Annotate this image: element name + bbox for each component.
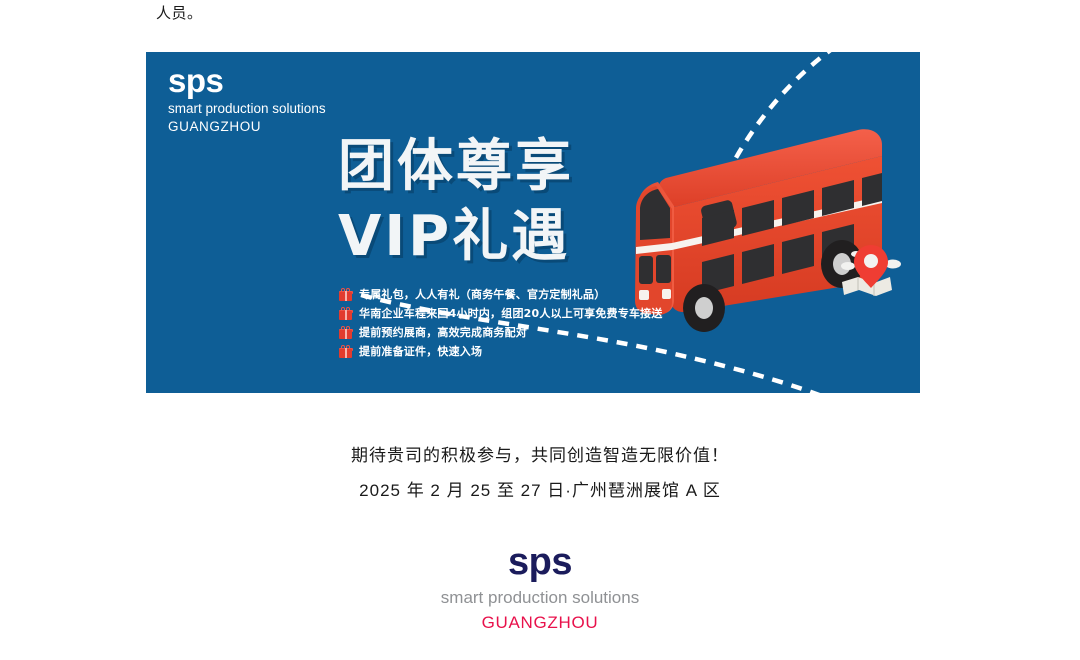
top-paragraph-text: 人员。 — [156, 3, 203, 25]
benefit-text: 华南企业车程来回4小时内，组团20人以上可享免费专车接送 — [359, 307, 663, 320]
footer-logo-city: GUANGZHOU — [0, 611, 1080, 635]
list-item: 提前准备证件，快速入场 — [339, 343, 663, 360]
benefit-text: 专属礼包，人人有礼（商务午餐、官方定制礼品） — [359, 288, 605, 301]
banner-logo-sps: sps — [168, 64, 326, 98]
banner-logo: sps smart production solutions GUANGZHOU — [168, 64, 326, 136]
gift-icon — [339, 326, 352, 339]
list-item: 华南企业车程来回4小时内，组团20人以上可享免费专车接送 — [339, 305, 663, 322]
headline-line-1: 团体尊享 — [338, 136, 574, 198]
double-decker-bus-illustration — [626, 112, 916, 342]
headline-line-2: VIP礼遇 — [338, 206, 574, 268]
banner-benefit-list: 专属礼包，人人有礼（商务午餐、官方定制礼品） 华南企业车程来回4小时内，组团20… — [339, 286, 663, 362]
footer-logo-sps: sps — [0, 540, 1080, 584]
gift-icon — [339, 288, 352, 301]
gift-icon — [339, 345, 352, 358]
banner-logo-city: GUANGZHOU — [168, 118, 326, 136]
footer-logo-tagline: smart production solutions — [0, 586, 1080, 610]
gift-icon — [339, 307, 352, 320]
promo-banner: sps smart production solutions GUANGZHOU — [146, 52, 920, 393]
benefit-text: 提前预约展商，高效完成商务配对 — [359, 326, 527, 339]
closing-text-block: 期待贵司的积极参与，共同创造智造无限价值！ 2025 年 2 月 25 至 27… — [0, 438, 1080, 508]
benefit-text: 提前准备证件，快速入场 — [359, 345, 482, 358]
closing-line-2: 2025 年 2 月 25 至 27 日·广州琶洲展馆 A 区 — [0, 473, 1080, 508]
banner-logo-tagline: smart production solutions — [168, 100, 326, 118]
list-item: 专属礼包，人人有礼（商务午餐、官方定制礼品） — [339, 286, 663, 303]
banner-headline: 团体尊享 VIP礼遇 — [338, 136, 574, 268]
footer-logo: sps smart production solutions GUANGZHOU — [0, 540, 1080, 635]
location-pin-illustration — [836, 240, 906, 300]
list-item: 提前预约展商，高效完成商务配对 — [339, 324, 663, 341]
closing-line-1: 期待贵司的积极参与，共同创造智造无限价值！ — [0, 438, 1080, 473]
